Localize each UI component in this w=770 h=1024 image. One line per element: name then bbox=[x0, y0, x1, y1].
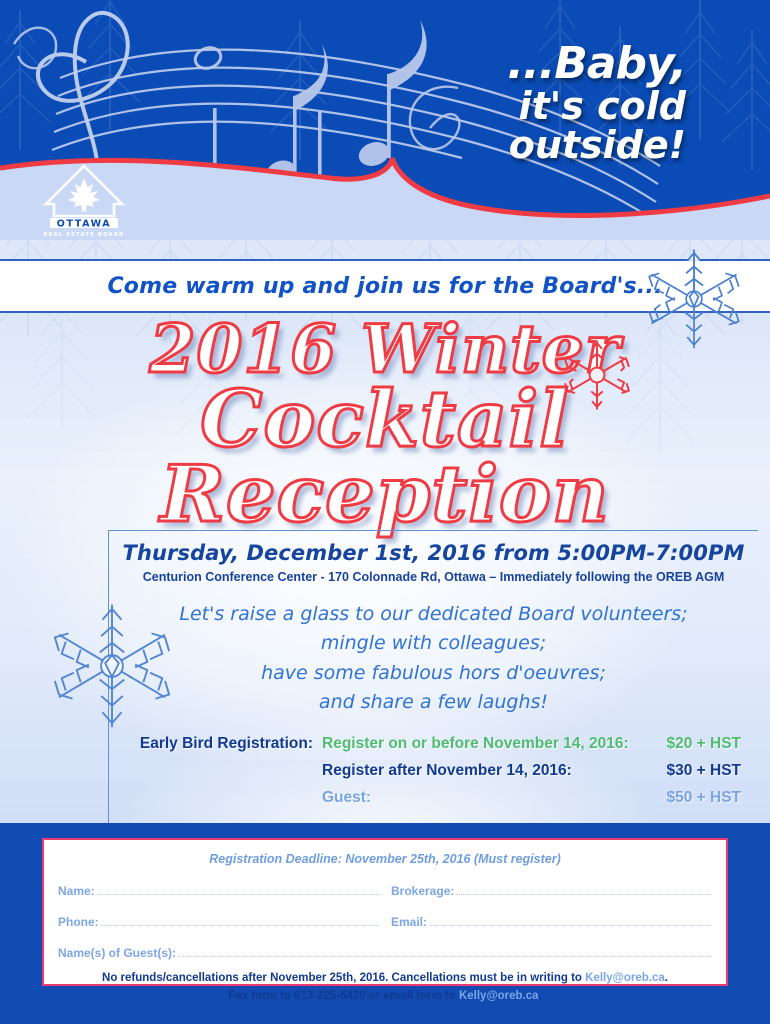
guest-names-field-input[interactable] bbox=[178, 945, 712, 957]
event-date-time: Thursday, December 1st, 2016 from 5:00PM… bbox=[109, 541, 758, 565]
brokerage-field-input[interactable] bbox=[456, 883, 712, 895]
name-field-label: Name: bbox=[58, 884, 95, 898]
refund-policy-line-1: No refunds/cancellations after November … bbox=[58, 970, 712, 988]
guest-names-field-label: Name(s) of Guest(s): bbox=[58, 946, 176, 960]
snowflake-icon-top-right bbox=[638, 243, 750, 355]
refund-policy-text-post: . bbox=[665, 972, 668, 984]
registration-form: Registration Deadline: November 25th, 20… bbox=[42, 838, 728, 986]
brokerage-field[interactable]: Brokerage: bbox=[391, 883, 712, 898]
invitation-band-text: Come warm up and join us for the Board's… bbox=[107, 274, 662, 299]
event-blurb: Let's raise a glass to our dedicated Boa… bbox=[109, 600, 758, 718]
form-row: Phone: Email: bbox=[58, 914, 712, 929]
snowflake-icon-left bbox=[44, 598, 180, 734]
phone-field-input[interactable] bbox=[101, 914, 379, 926]
registration-deadline: Registration Deadline: November 25th, 20… bbox=[58, 852, 712, 866]
pricing-row: Early Bird Registration: Register on or … bbox=[127, 735, 741, 753]
phone-field-label: Phone: bbox=[58, 915, 99, 929]
contact-email-link[interactable]: Kelly@oreb.ca bbox=[585, 972, 665, 984]
pricing-row-description: Register on or before November 14, 2016: bbox=[322, 735, 629, 753]
pricing-row-price: $30 + HST bbox=[629, 762, 741, 780]
event-blurb-line-3: have some fabulous hors d'oeuvres; bbox=[109, 659, 758, 688]
phone-field[interactable]: Phone: bbox=[58, 914, 391, 929]
oreb-logo: OTTAWA REAL ESTATE BOARD bbox=[38, 160, 130, 238]
event-venue: Centurion Conference Center - 170 Colonn… bbox=[109, 570, 758, 584]
red-snowflake-icon bbox=[556, 334, 638, 416]
email-field-label: Email: bbox=[391, 915, 427, 929]
event-blurb-line-1: Let's raise a glass to our dedicated Boa… bbox=[109, 600, 758, 629]
event-blurb-line-4: and share a few laughs! bbox=[109, 688, 758, 717]
brokerage-field-label: Brokerage: bbox=[391, 884, 454, 898]
pricing-row: Guest: $50 + HST bbox=[127, 789, 741, 807]
pricing-row-description: Guest: bbox=[322, 789, 629, 807]
logo-name-text: OTTAWA bbox=[57, 218, 111, 229]
pricing-row-description: Register after November 14, 2016: bbox=[322, 762, 629, 780]
email-field[interactable]: Email: bbox=[391, 914, 712, 929]
name-field-input[interactable] bbox=[97, 883, 379, 895]
pricing-row-price: $20 + HST bbox=[629, 735, 741, 753]
event-details-panel: Thursday, December 1st, 2016 from 5:00PM… bbox=[108, 530, 758, 823]
flyer-page: OTTAWA REAL ESTATE BOARD ...Baby, it's c… bbox=[0, 0, 770, 1024]
logo-subtitle-text: REAL ESTATE BOARD bbox=[43, 232, 124, 238]
event-blurb-line-2: mingle with colleagues; bbox=[109, 629, 758, 658]
fax-instructions-text-pre: Fax form to 613-225-6420 or email form t… bbox=[228, 990, 459, 1002]
contact-email-link[interactable]: Kelly@oreb.ca bbox=[459, 990, 539, 1002]
headline-line-3: outside! bbox=[356, 126, 686, 165]
guest-names-field[interactable]: Name(s) of Guest(s): bbox=[58, 945, 712, 960]
header-banner: OTTAWA REAL ESTATE BOARD ...Baby, it's c… bbox=[0, 0, 770, 240]
pricing-row: Register after November 14, 2016: $30 + … bbox=[127, 762, 741, 780]
headline-line-1: ...Baby, bbox=[356, 42, 686, 87]
fax-instructions-text-post: . bbox=[539, 990, 542, 1002]
pricing-table: Early Bird Registration: Register on or … bbox=[127, 735, 741, 816]
headline: ...Baby, it's cold outside! bbox=[356, 42, 686, 164]
refund-policy-text-pre: No refunds/cancellations after November … bbox=[102, 972, 585, 984]
form-row: Name: Brokerage: bbox=[58, 883, 712, 898]
pricing-row-label: Early Bird Registration: bbox=[127, 735, 322, 753]
pricing-row-price: $50 + HST bbox=[629, 789, 741, 807]
fax-instructions-line: Fax form to 613-225-6420 or email form t… bbox=[58, 988, 712, 1006]
email-field-input[interactable] bbox=[429, 914, 712, 926]
refund-policy-note: No refunds/cancellations after November … bbox=[58, 970, 712, 1006]
headline-line-2: it's cold bbox=[356, 87, 686, 126]
name-field[interactable]: Name: bbox=[58, 883, 391, 898]
